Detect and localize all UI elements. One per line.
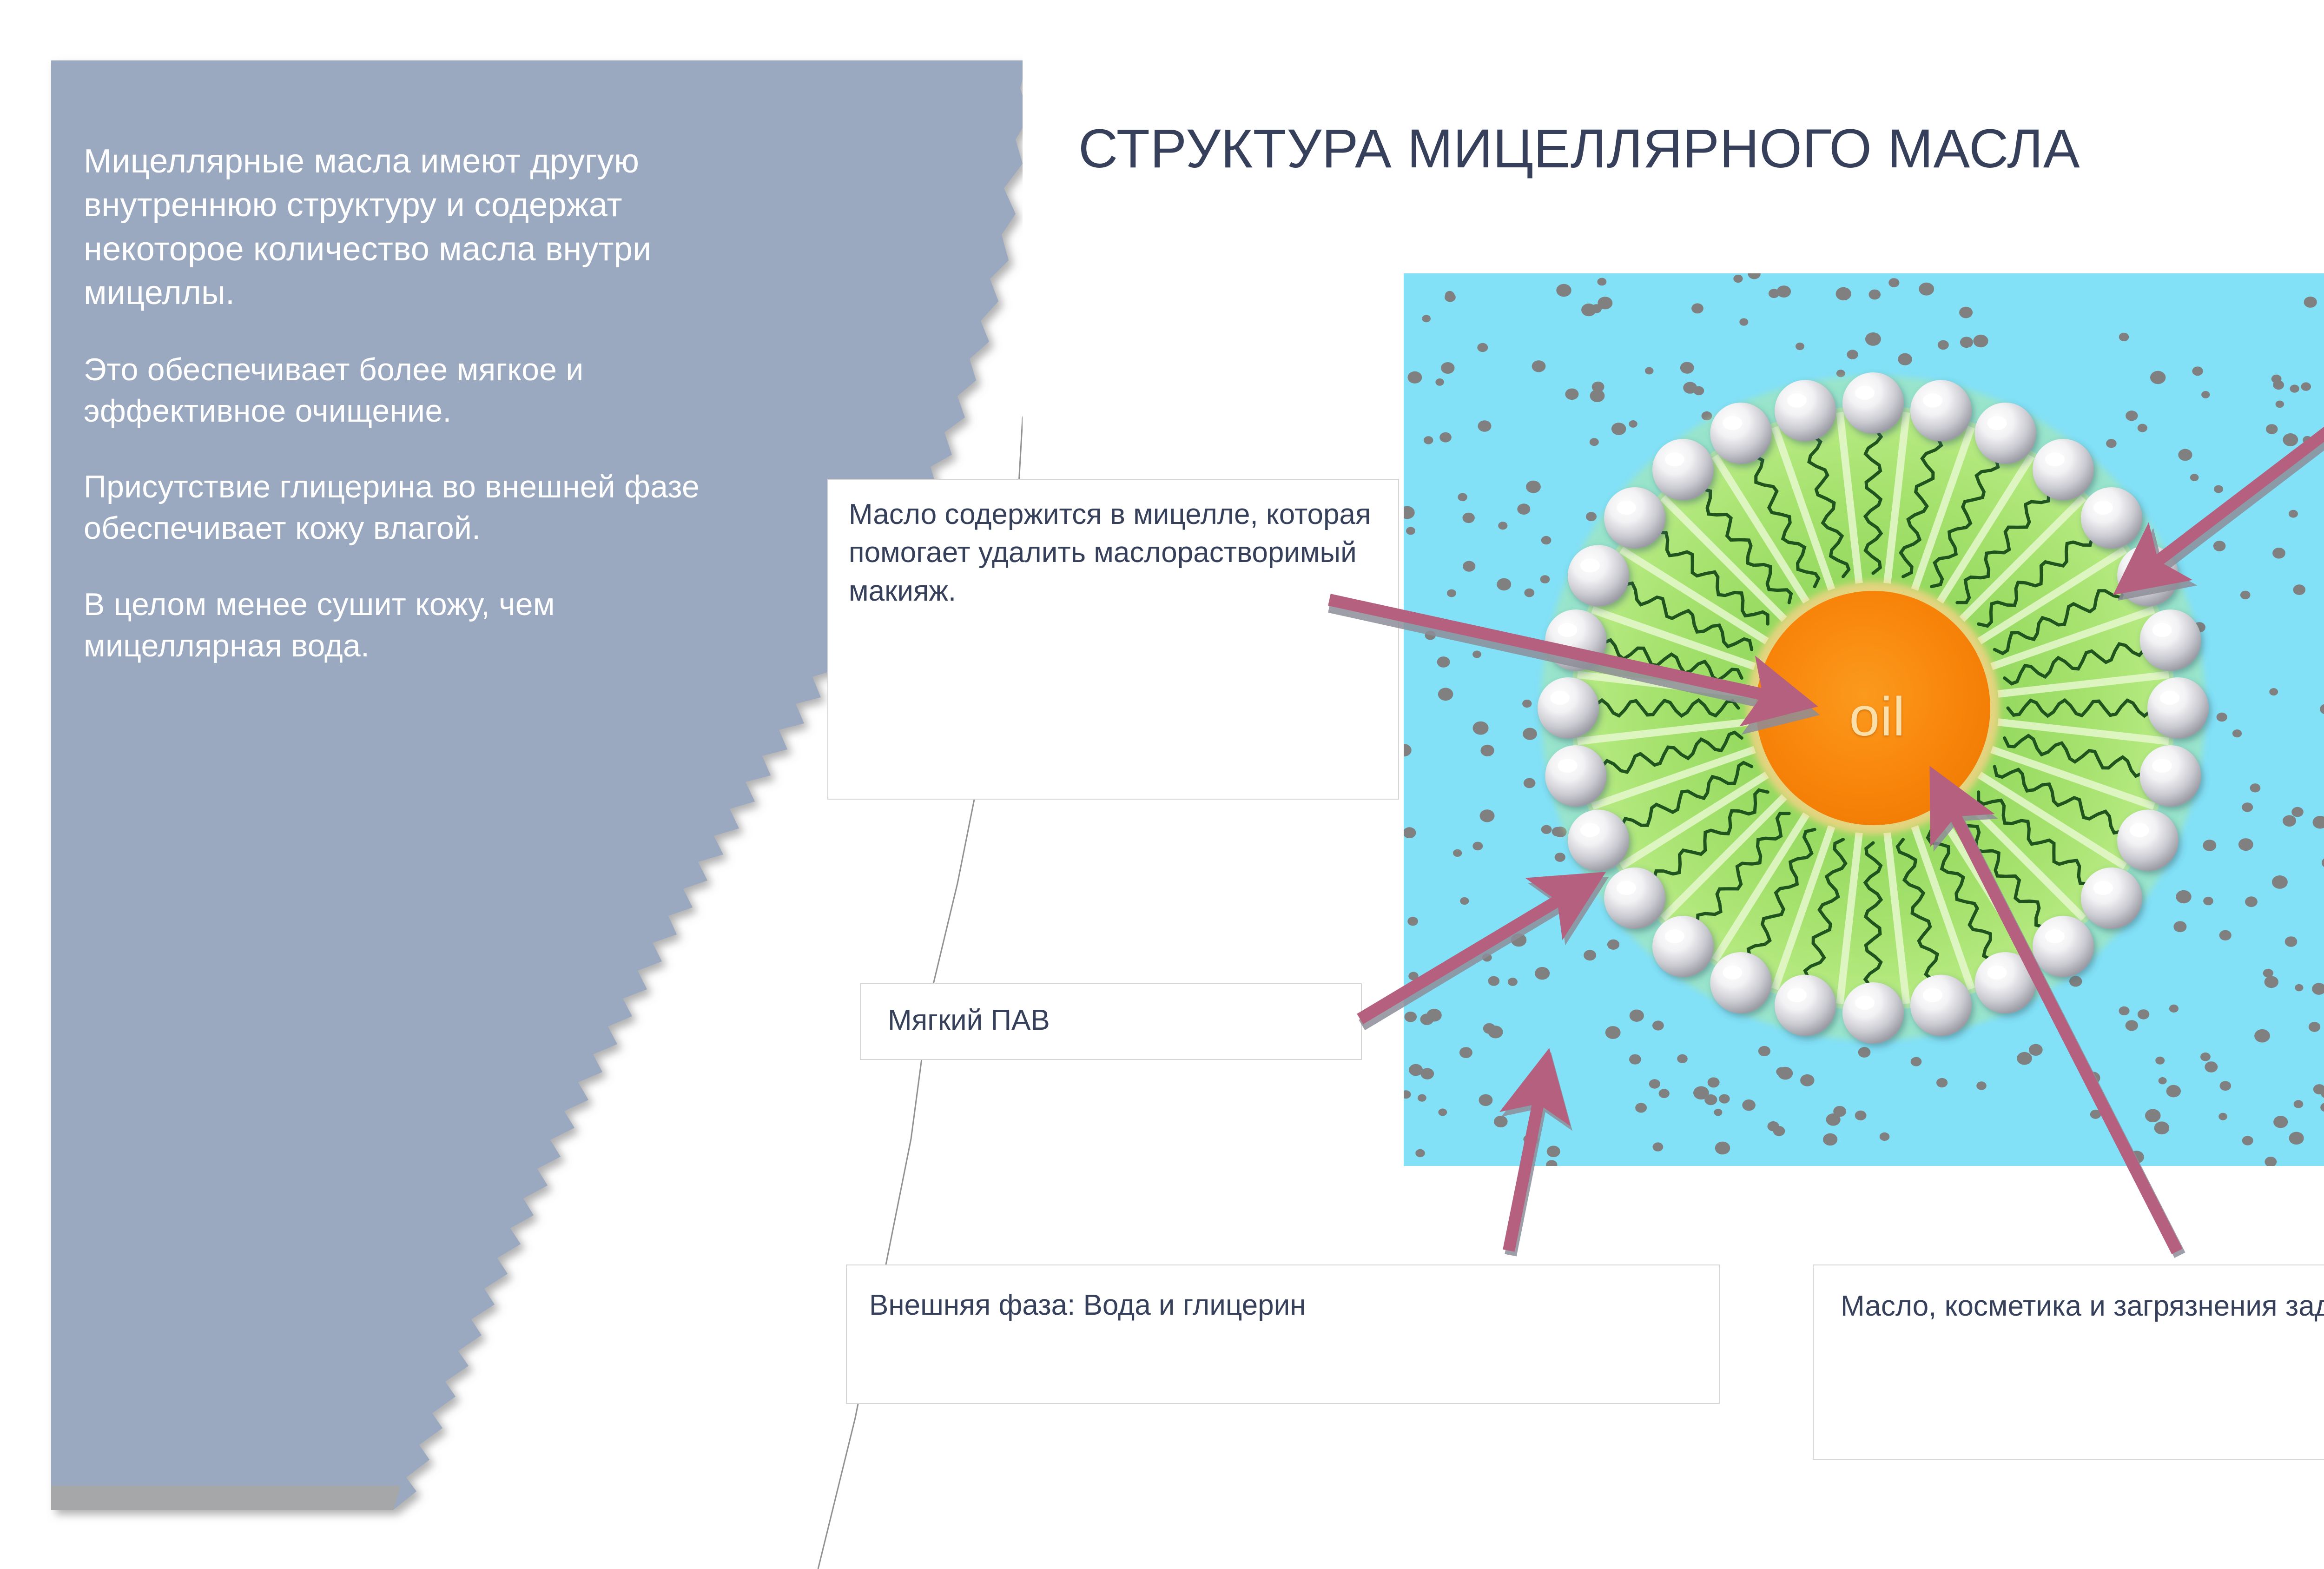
- micelle-illustration: [1404, 273, 2324, 1166]
- sidebar-paragraph-1: Мицеллярные масла имеют другую внутренню…: [84, 139, 744, 315]
- sidebar-paragraph-2: Это обеспечивает более мягкое и эффектив…: [84, 349, 744, 432]
- callout-outer-phase-text: Внешняя фаза: Вода и глицерин: [869, 1286, 1719, 1325]
- hydrophilic-head: [1910, 975, 1972, 1036]
- slide-canvas: Мицеллярные масла имеют другую внутренню…: [0, 0, 2324, 1569]
- callout-outer-phase[interactable]: Внешняя фаза: Вода и глицерин: [846, 1264, 1720, 1404]
- callout-oil-in-micelle-text: Масло содержится в мицелле, которая помо…: [849, 496, 1380, 610]
- hydrophilic-head: [1545, 609, 1606, 671]
- hydrophilic-head: [1652, 439, 1714, 500]
- callout-oil-in-micelle[interactable]: Масло содержится в мицелле, которая помо…: [827, 479, 1399, 800]
- callout-core-trap-text: Масло, косметика и загрязнения задержива…: [1841, 1287, 2324, 1326]
- page-title: СТРУКТУРА МИЦЕЛЛЯРНОГО МАСЛА: [1078, 117, 2324, 180]
- hydrophilic-head: [2117, 545, 2179, 606]
- hydrophilic-head: [1568, 810, 1629, 871]
- hydrophilic-head: [1538, 677, 1599, 739]
- hydrophilic-head: [2140, 745, 2201, 807]
- hydrophilic-head: [1775, 380, 1836, 441]
- hydrophilic-head: [1545, 745, 1606, 807]
- hydrophilic-head: [1710, 403, 1771, 464]
- sidebar-paragraph-4: В целом менее сушит кожу, чем мицеллярна…: [84, 584, 744, 667]
- hydrophilic-head: [2081, 867, 2142, 929]
- hydrophilic-head: [1775, 975, 1836, 1036]
- hydrophilic-head: [1710, 952, 1771, 1013]
- callout-mild-surfactant-text: Мягкий ПАВ: [888, 1001, 1361, 1040]
- hydrophilic-head: [1842, 982, 1904, 1044]
- sidebar-paragraph-3: Присутствие глицерина во внешней фазе об…: [84, 466, 744, 549]
- hydrophilic-head: [2117, 810, 2179, 871]
- oil-core: [1756, 591, 1990, 825]
- hydrophilic-head: [2147, 677, 2209, 739]
- hydrophilic-head: [1652, 916, 1714, 977]
- hydrophilic-head: [1842, 372, 1904, 434]
- micelle-diagram: oil: [1404, 273, 2324, 1166]
- hydrophilic-head: [1604, 487, 1665, 549]
- hydrophilic-head: [2081, 487, 2142, 549]
- hydrophilic-head: [1975, 403, 2036, 464]
- hydrophilic-head: [1604, 867, 1665, 929]
- hydrophilic-head: [2140, 609, 2201, 671]
- hydrophilic-head: [1910, 380, 1972, 441]
- hydrophilic-head: [2033, 439, 2094, 500]
- hydrophilic-head: [1568, 545, 1629, 606]
- hydrophilic-head: [1975, 952, 2036, 1013]
- sidebar-body-text: Мицеллярные масла имеют другую внутренню…: [84, 139, 744, 667]
- callout-mild-surfactant[interactable]: Мягкий ПАВ: [860, 983, 1362, 1060]
- callout-core-trap[interactable]: Масло, косметика и загрязнения задержива…: [1813, 1264, 2324, 1460]
- hydrophilic-head: [2033, 916, 2094, 977]
